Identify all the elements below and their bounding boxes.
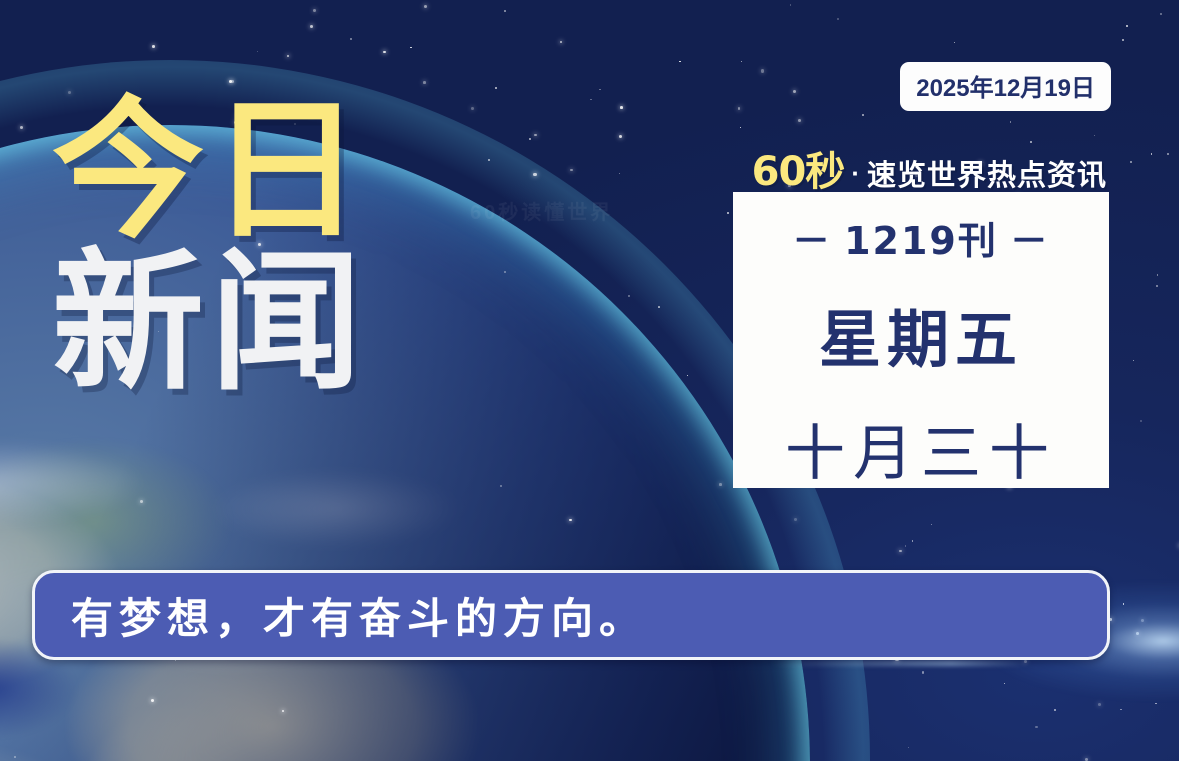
date-badge: 2025年12月19日 <box>900 62 1111 111</box>
title-line-today: 今日 <box>52 96 368 246</box>
lunar-date-label: 十月三十 <box>785 405 1057 492</box>
quote-banner: 有梦想，才有奋斗的方向。 <box>32 570 1110 660</box>
issue-number: 1219刊 <box>844 219 998 263</box>
issue-card: －1219刊－ 星期五 十月三十 <box>733 192 1109 488</box>
quote-text: 有梦想，才有奋斗的方向。 <box>35 585 647 646</box>
tagline-separator: · <box>846 158 865 189</box>
tagline-seconds: 60秒 <box>752 139 845 197</box>
poster-title: 今日 新闻 <box>52 96 368 398</box>
tagline-text: 速览世界热点资讯 <box>867 152 1107 194</box>
issue-number-row: －1219刊－ <box>780 210 1062 265</box>
issue-dash-left: － <box>780 219 844 263</box>
news-poster: 60秒读懂世界 今日 新闻 2025年12月19日 60秒 · 速览世界热点资讯… <box>0 0 1179 761</box>
issue-dash-right: － <box>998 219 1062 263</box>
weekday-label: 星期五 <box>819 289 1023 379</box>
tagline-row: 60秒 · 速览世界热点资讯 <box>752 139 1107 197</box>
title-line-news: 新闻 <box>52 248 368 398</box>
